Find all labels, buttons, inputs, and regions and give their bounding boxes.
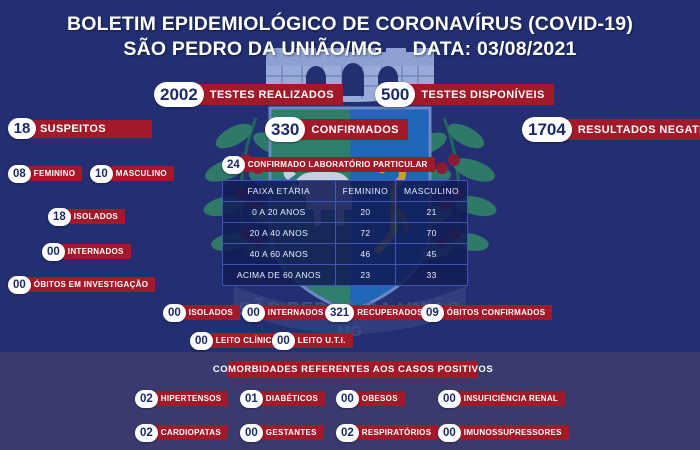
stat-value: 00 xyxy=(163,304,186,322)
comorbidities-banner: COMORBIDADES REFERENTES AOS CASOS POSITI… xyxy=(228,361,478,378)
stat-label: INTERNADOS xyxy=(57,244,131,259)
stat-label: IMUNOSSUPRESSORES xyxy=(453,425,569,440)
cell-age-range: 20 A 40 ANOS xyxy=(223,223,336,244)
stat-value: 00 xyxy=(272,332,295,350)
stat-obesos: 00 OBESOS xyxy=(336,388,405,409)
stat-value: 500 xyxy=(375,82,415,107)
stat-value: 00 xyxy=(190,332,213,350)
stat-label: RECUPERADOS xyxy=(346,305,430,320)
age-range-table: FAIXA ETÁRIA FEMININO MASCULINO 0 A 20 A… xyxy=(222,180,468,286)
stat-value: 00 xyxy=(438,424,461,442)
table-row: ACIMA DE 60 ANOS 23 33 xyxy=(223,265,468,286)
stat-obitos-em-investigacao: 00 ÓBITOS EM INVESTIGAÇÃO xyxy=(8,274,155,295)
column-header-masculino: MASCULINO xyxy=(396,181,468,202)
table-row: 40 A 60 ANOS 46 45 xyxy=(223,244,468,265)
stat-value: 330 xyxy=(265,117,305,142)
stat-label: RESPIRATÓRIOS xyxy=(351,425,439,440)
cell-male: 45 xyxy=(396,244,468,265)
cell-male: 70 xyxy=(396,223,468,244)
stat-label: HIPERTENSOS xyxy=(150,391,229,406)
stat-label: CONFIRMADOS xyxy=(297,119,408,140)
stat-confirmado-laboratorio-particular: 24 CONFIRMADO LABORATÓRIO PARTICULAR xyxy=(222,154,435,175)
stat-value: 09 xyxy=(421,304,444,322)
stat-obitos-confirmados: 09 ÓBITOS CONFIRMADOS xyxy=(421,302,552,323)
stat-cardiopatas: 02 CARDIOPATAS xyxy=(135,422,228,443)
cell-female: 20 xyxy=(335,202,395,223)
stat-label: INTERNADOS xyxy=(257,305,331,320)
stat-leito-clinico: 00 LEITO CLÍNICO xyxy=(190,330,285,351)
stat-confirmados: 330 CONFIRMADOS xyxy=(265,117,408,142)
stat-value: 00 xyxy=(42,243,65,261)
stat-value: 02 xyxy=(135,390,158,408)
stat-gestantes: 00 GESTANTES xyxy=(240,422,324,443)
stat-value: 18 xyxy=(8,118,36,139)
stat-insuficiencia-renal: 00 INSUFICIÊNCIA RENAL xyxy=(438,388,565,409)
cell-age-range: 40 A 60 ANOS xyxy=(223,244,336,265)
cell-female: 23 xyxy=(335,265,395,286)
stat-suspeitos-isolados: 18 ISOLADOS xyxy=(48,206,125,227)
stat-label: ISOLADOS xyxy=(178,305,240,320)
stat-hipertensos: 02 HIPERTENSOS xyxy=(135,388,228,409)
stat-label: ÓBITOS CONFIRMADOS xyxy=(436,305,553,320)
stat-value: 00 xyxy=(242,304,265,322)
stat-testes-realizados: 2002 TESTES REALIZADOS xyxy=(154,82,343,107)
stat-value: 00 xyxy=(8,276,31,294)
stat-value: 01 xyxy=(240,390,263,408)
stat-value: 18 xyxy=(48,208,71,226)
stat-value: 08 xyxy=(8,165,31,183)
stat-diabeticos: 01 DIABÉTICOS xyxy=(240,388,325,409)
stat-label: LEITO U.T.I. xyxy=(287,333,353,348)
stat-suspeitos-feminino: 08 FEMININO xyxy=(8,163,82,184)
stat-recuperados: 321 RECUPERADOS xyxy=(325,302,430,323)
stat-label: TESTES DISPONÍVEIS xyxy=(407,84,553,105)
stat-value: 00 xyxy=(438,390,461,408)
stat-label: RESULTADOS NEGATIVOS xyxy=(564,119,700,140)
stat-label: GESTANTES xyxy=(255,425,324,440)
stat-value: 00 xyxy=(336,390,359,408)
stat-leito-uti: 00 LEITO U.T.I. xyxy=(272,330,353,351)
cell-male: 21 xyxy=(396,202,468,223)
stat-label: CONFIRMADO LABORATÓRIO PARTICULAR xyxy=(237,157,435,172)
column-header-faixa-etaria: FAIXA ETÁRIA xyxy=(223,181,336,202)
stat-label: ÓBITOS EM INVESTIGAÇÃO xyxy=(23,277,155,292)
stat-label: MASCULINO xyxy=(105,166,174,181)
cell-age-range: ACIMA DE 60 ANOS xyxy=(223,265,336,286)
stat-label: CARDIOPATAS xyxy=(150,425,228,440)
cell-age-range: 0 A 20 ANOS xyxy=(223,202,336,223)
stat-imunossupressores: 00 IMUNOSSUPRESSORES xyxy=(438,422,569,443)
stat-positivos-isolados: 00 ISOLADOS xyxy=(163,302,240,323)
stat-label: SUSPEITOS xyxy=(28,120,152,138)
cell-female: 72 xyxy=(335,223,395,244)
stat-value: 00 xyxy=(240,424,263,442)
stat-suspeitos-internados: 00 INTERNADOS xyxy=(42,241,131,262)
stat-value: 02 xyxy=(135,424,158,442)
stat-label: INSUFICIÊNCIA RENAL xyxy=(453,391,565,406)
column-header-feminino: FEMININO xyxy=(335,181,395,202)
stat-label: TESTES REALIZADOS xyxy=(196,84,343,105)
cell-female: 46 xyxy=(335,244,395,265)
table-header-row: FAIXA ETÁRIA FEMININO MASCULINO xyxy=(223,181,468,202)
stat-respiratorios: 02 RESPIRATÓRIOS xyxy=(336,422,438,443)
table-row: 0 A 20 ANOS 20 21 xyxy=(223,202,468,223)
stat-suspeitos: 18 SUSPEITOS xyxy=(8,118,152,139)
stat-value: 2002 xyxy=(154,82,204,107)
stat-value: 24 xyxy=(222,156,245,174)
stat-value: 02 xyxy=(336,424,359,442)
stat-testes-disponiveis: 500 TESTES DISPONÍVEIS xyxy=(375,82,554,107)
stat-value: 10 xyxy=(90,165,113,183)
stat-value: 1704 xyxy=(522,117,572,142)
stat-label: FEMININO xyxy=(23,166,83,181)
stat-label: OBESOS xyxy=(351,391,405,406)
cell-male: 33 xyxy=(396,265,468,286)
stat-positivos-internados: 00 INTERNADOS xyxy=(242,302,331,323)
stat-suspeitos-masculino: 10 MASCULINO xyxy=(90,163,174,184)
stat-label: DIABÉTICOS xyxy=(255,391,325,406)
table-row: 20 A 40 ANOS 72 70 xyxy=(223,223,468,244)
stat-resultados-negativos: 1704 RESULTADOS NEGATIVOS xyxy=(522,117,700,142)
stat-label: ISOLADOS xyxy=(63,209,125,224)
stat-value: 321 xyxy=(325,304,354,322)
